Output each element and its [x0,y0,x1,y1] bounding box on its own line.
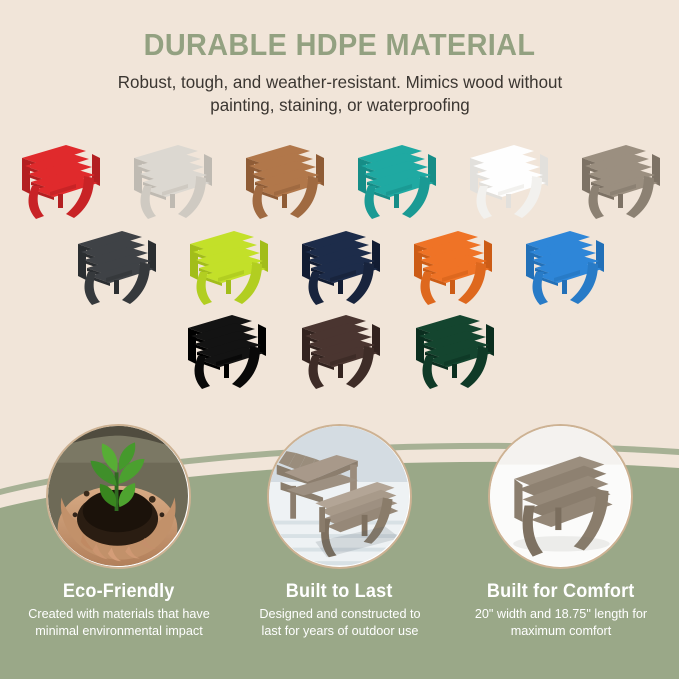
feature-built-to-last: Built to Last Designed and constructed t… [237,424,442,639]
feature-desc-line-1: 20" width and 18.75" length [474,606,628,621]
ottoman-swatch-black[interactable] [180,312,272,392]
ottoman-swatch-slate-gray[interactable] [70,228,162,308]
feature-title: Built to Last [286,581,393,603]
feature-title: Eco-Friendly [63,581,175,603]
ottoman-swatch-light-gray[interactable] [126,142,218,222]
feature-eco-friendly: Eco-Friendly Created with materials that… [16,424,221,639]
feature-description: Designed and constructed to last for yea… [252,606,427,639]
ottoman-swatch-bright-blue[interactable] [518,228,610,308]
adirondack-chair-and-ottoman-icon [269,426,409,566]
page-subtitle: Robust, tough, and weather-resistant. Mi… [87,71,591,117]
feature-title: Built for Comfort [487,581,635,603]
ottoman-swatch-brown-teak[interactable] [238,142,330,222]
infographic-root: DURABLE HDPE MATERIAL Robust, tough, and… [0,0,679,679]
header: DURABLE HDPE MATERIAL Robust, tough, and… [0,0,679,117]
swatch-row-1 [0,142,679,222]
feature-description: 20" width and 18.75" length for maximum … [473,606,648,639]
feature-desc-line-1: Designed and constructed to [259,606,420,621]
feature-built-for-comfort: Built for Comfort 20" width and 18.75" l… [458,424,663,639]
feature-image-built-for-comfort [488,424,633,569]
feature-desc-line-2: last for years of outdoor use [261,623,418,638]
subtitle-line-1: Robust, tough, and weather-resistant. Mi… [117,72,503,92]
ottoman-swatch-dark-green[interactable] [408,312,500,392]
feature-panels: Eco-Friendly Created with materials that… [0,424,679,639]
feature-desc-line-3: impact [165,623,202,638]
feature-image-eco-friendly [46,424,191,569]
ottoman-swatch-lime-green[interactable] [182,228,274,308]
swatch-row-2 [0,228,679,308]
ottoman-swatch-navy-blue[interactable] [294,228,386,308]
ottoman-swatch-white[interactable] [462,142,554,222]
ottoman-swatch-espresso-brown[interactable] [294,312,386,392]
ottoman-closeup-icon [490,426,630,566]
feature-description: Created with materials that have minimal… [27,606,209,639]
ottoman-swatch-red[interactable] [14,142,106,222]
feature-desc-line-1: Created with materials that [28,606,179,621]
ottoman-swatch-teal[interactable] [350,142,442,222]
ottoman-swatch-orange[interactable] [406,228,498,308]
swatch-row-3 [0,312,679,392]
page-title: DURABLE HDPE MATERIAL [24,0,655,62]
feature-image-built-to-last [267,424,412,569]
hands-holding-seedling-icon [48,426,188,566]
ottoman-swatch-taupe-gray[interactable] [574,142,666,222]
color-swatch-grid [0,142,679,392]
